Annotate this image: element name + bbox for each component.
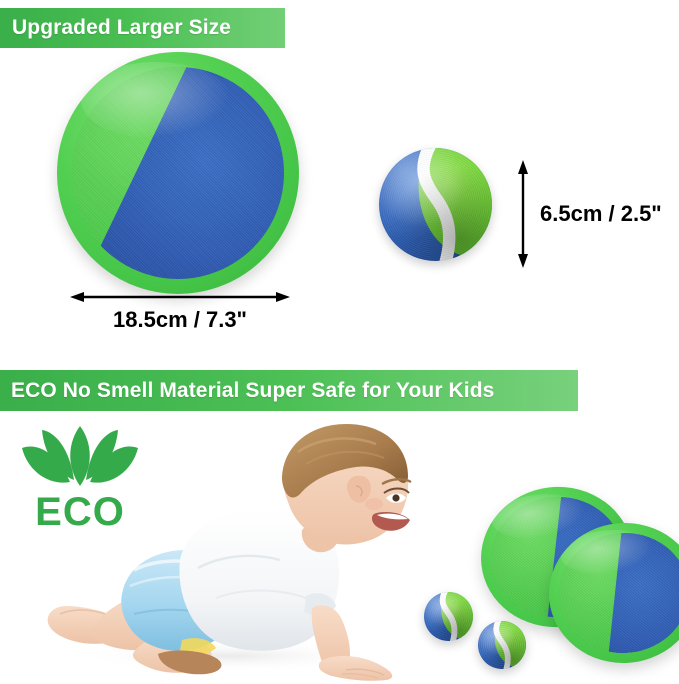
- eco-logo: ECO: [18, 424, 142, 534]
- ball-small-left: [424, 592, 473, 641]
- ball-seam-white: [424, 592, 473, 641]
- dimension-arrow-height: [514, 160, 532, 268]
- banner-one-text: Upgraded Larger Size: [12, 16, 231, 40]
- infographic-canvas: Upgraded Larger Size 18.5cm / 7.3": [0, 0, 679, 684]
- ball-small-right: [478, 621, 526, 669]
- dimension-label-width: 18.5cm / 7.3": [70, 307, 290, 333]
- ball-seam-white: [379, 148, 492, 261]
- banner-upgraded-larger-size: Upgraded Larger Size: [0, 8, 285, 48]
- paddle-small-front-face: [554, 528, 679, 659]
- ball-seam-white: [478, 621, 526, 669]
- paddle-large: [57, 52, 299, 294]
- eco-logo-text: ECO: [18, 490, 142, 534]
- dimension-arrow-width: [70, 289, 290, 305]
- paddle-large-face: [72, 67, 284, 279]
- dimension-label-height: 6.5cm / 2.5": [540, 201, 662, 227]
- eco-leaves-icon: [18, 424, 142, 490]
- ball-large: [379, 148, 492, 261]
- paddle-small-front: [543, 517, 679, 670]
- banner-two-text: ECO No Smell Material Super Safe for You…: [11, 379, 494, 403]
- banner-eco-no-smell: ECO No Smell Material Super Safe for You…: [0, 370, 578, 411]
